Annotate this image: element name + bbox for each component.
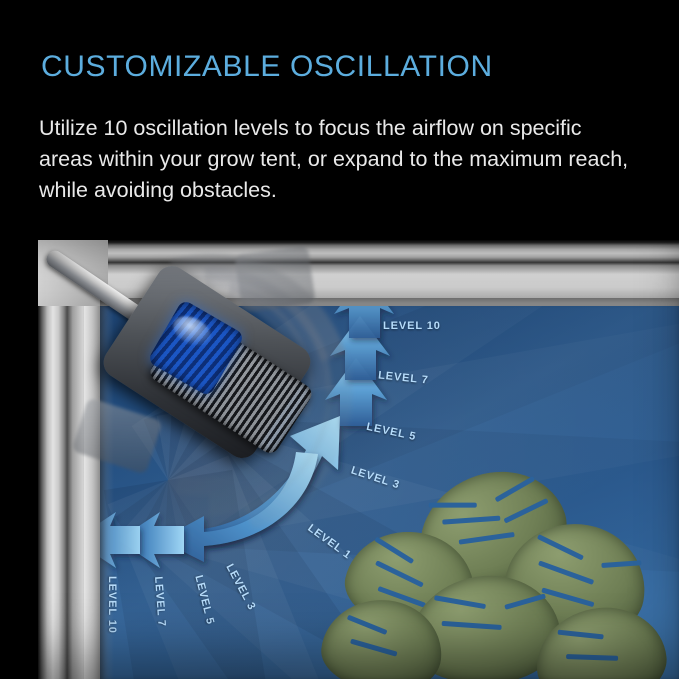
product-illustration: LEVEL 10 LEVEL 7 LEVEL 5 LEVEL 3 LEVEL 1… xyxy=(0,240,679,679)
page-description: Utilize 10 oscillation levels to focus t… xyxy=(39,113,639,206)
page-title: CUSTOMIZABLE OSCILLATION xyxy=(41,50,493,84)
oscillating-clip-fan xyxy=(60,244,350,504)
monstera-plant xyxy=(356,484,679,679)
level-label-right-10: LEVEL 10 xyxy=(383,320,441,332)
fan-clamp-ghost xyxy=(234,245,315,313)
intro-text-block: CUSTOMIZABLE OSCILLATION Utilize 10 osci… xyxy=(0,0,679,240)
